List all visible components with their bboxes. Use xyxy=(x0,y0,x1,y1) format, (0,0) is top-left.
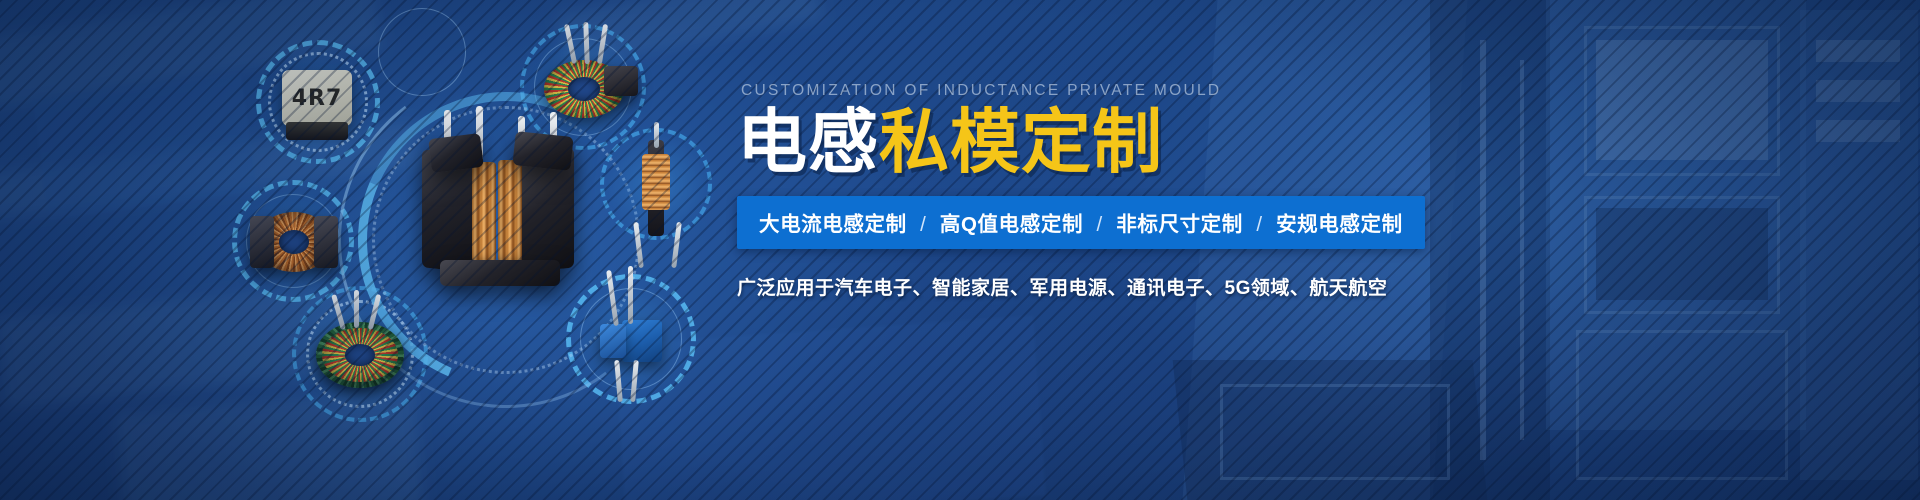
common-mode-filter-choke xyxy=(400,110,590,280)
feature-separator-0: / xyxy=(911,213,935,236)
feature-item-3: 安规电感定制 xyxy=(1276,213,1403,236)
axial-leaded-inductor xyxy=(600,126,716,276)
feature-pill-bar: 大电流电感定制 / 高Q值电感定制 / 非标尺寸定制 / 安规电感定制 xyxy=(737,196,1425,249)
feature-separator-1: / xyxy=(1088,213,1112,236)
banner-headline: 电感私模定制 xyxy=(737,106,1377,179)
smd-power-inductor: 4R7 xyxy=(258,44,378,164)
feature-item-0: 大电流电感定制 xyxy=(759,213,907,236)
feature-item-2: 非标尺寸定制 xyxy=(1116,213,1243,236)
color-ring-toroid-coil xyxy=(292,288,426,422)
banner-application-subline: 广泛应用于汽车电子、智能家居、军用电源、通讯电子、5G领域、航天航空 xyxy=(737,273,1377,300)
feature-separator-2: / xyxy=(1247,213,1271,236)
banner-eyebrow-text: CUSTOMIZATION OF INDUCTANCE PRIVATE MOUL… xyxy=(741,82,1377,100)
product-banner: 4R7 xyxy=(0,0,1920,500)
headline-gold-part: 私模定制 xyxy=(879,101,1163,183)
banner-text-block: CUSTOMIZATION OF INDUCTANCE PRIVATE MOUL… xyxy=(737,82,1377,300)
feature-item-1: 高Q值电感定制 xyxy=(940,213,1083,236)
flat-wire-inductor xyxy=(234,182,354,302)
smd-chip-label: 4R7 xyxy=(282,70,352,126)
blue-bobbin-inductor xyxy=(566,276,696,406)
headline-white-part: 电感 xyxy=(737,101,879,183)
